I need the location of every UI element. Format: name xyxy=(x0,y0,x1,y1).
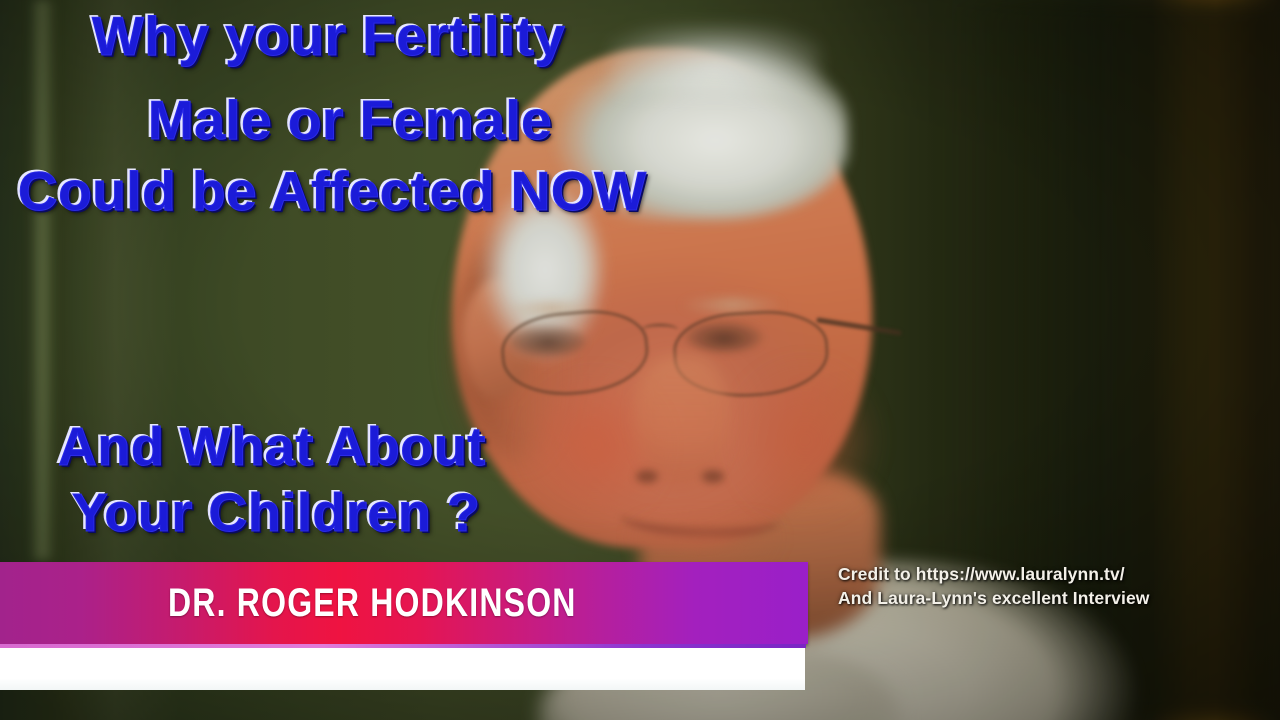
video-frame: Why your Fertility Male or Female Could … xyxy=(0,0,1280,720)
credit-block: Credit to https://www.lauralynn.tv/ And … xyxy=(838,562,1268,610)
question-line-2: Your Children ? xyxy=(72,486,481,541)
lower-third-white-strip xyxy=(0,648,805,690)
credit-line-2: And Laura-Lynn's excellent Interview xyxy=(838,586,1268,610)
question-line-1: And What About xyxy=(58,420,486,475)
title-line-1: Why your Fertility xyxy=(92,8,566,64)
speaker-name: DR. ROGER HODKINSON xyxy=(168,581,577,626)
title-line-2: Male or Female xyxy=(148,92,552,148)
credit-line-1: Credit to https://www.lauralynn.tv/ xyxy=(838,562,1268,586)
lower-third-name-banner: DR. ROGER HODKINSON xyxy=(0,562,808,644)
title-line-3: Could be Affected NOW xyxy=(18,163,647,219)
